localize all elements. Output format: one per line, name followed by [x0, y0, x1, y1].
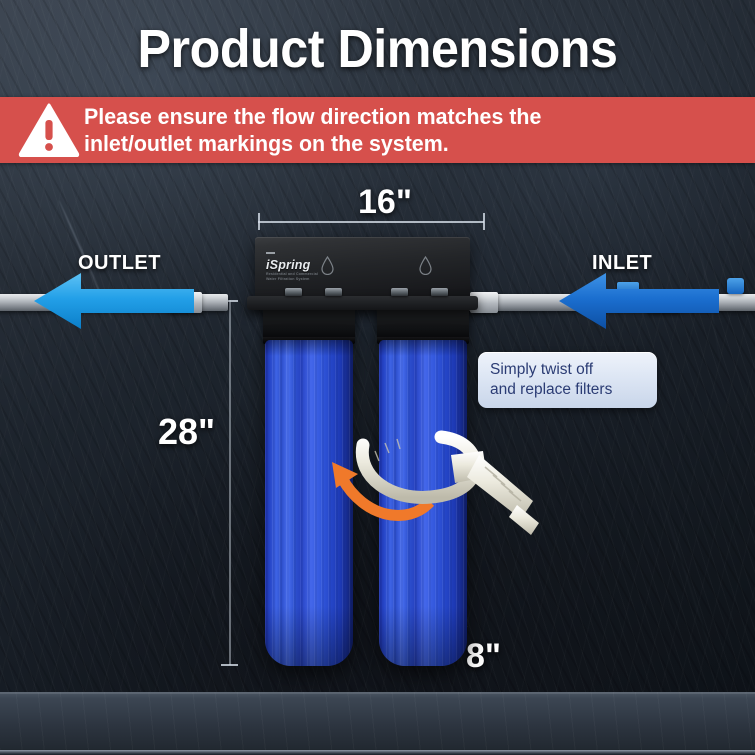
height-dimension-cap-bottom — [221, 664, 238, 666]
bracket-clip-1 — [285, 288, 302, 296]
outlet-flow-arrow — [34, 270, 194, 332]
brand-tagline-line-2: Water Filtration System — [266, 277, 332, 282]
bracket-clip-2 — [325, 288, 342, 296]
height-dimension-label: 28" — [158, 411, 215, 453]
floor-edge-line — [0, 750, 755, 755]
filter-cap-left — [263, 305, 355, 344]
brand-logo: iSpring — [266, 258, 310, 272]
callout-line-1: Simply twist off — [490, 360, 647, 380]
pipe-valve-right-edge — [727, 278, 744, 294]
bracket-clip-4 — [431, 288, 448, 296]
warning-line-1: Please ensure the flow direction matches… — [84, 103, 541, 130]
filter-cap-right — [377, 305, 469, 344]
warning-triangle-icon — [18, 103, 80, 157]
width-dimension-line — [258, 221, 484, 223]
bracket-clip-3 — [391, 288, 408, 296]
warning-text: Please ensure the flow direction matches… — [84, 103, 541, 157]
bracket-flange — [247, 296, 478, 310]
warning-line-2: inlet/outlet markings on the system. — [84, 130, 541, 157]
width-dimension-cap-right — [483, 213, 485, 230]
callout-line-2: and replace filters — [490, 380, 647, 400]
inlet-flow-arrow — [559, 270, 719, 332]
water-drop-icon-right — [419, 256, 432, 275]
infographic-stage: Product Dimensions Please ensure the flo… — [0, 0, 755, 755]
page-title: Product Dimensions — [26, 18, 728, 80]
floor-strip — [0, 692, 755, 755]
warning-banner: Please ensure the flow direction matches… — [0, 97, 755, 163]
width-dimension-label: 16" — [358, 183, 412, 222]
filter-wrench — [355, 415, 545, 545]
brand-dash — [266, 252, 275, 254]
width-dimension-cap-left — [258, 213, 260, 230]
height-dimension-line — [229, 300, 231, 665]
replace-filters-callout: Simply twist off and replace filters — [478, 352, 657, 408]
water-drop-icon-left — [321, 256, 334, 275]
